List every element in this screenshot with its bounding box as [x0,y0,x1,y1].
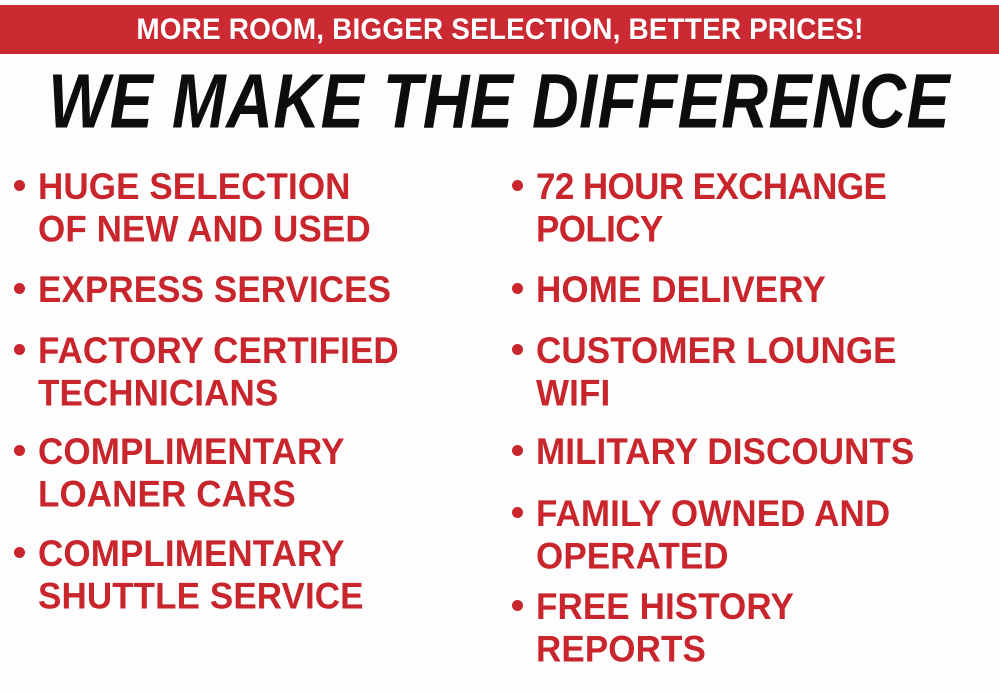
list-item: 72 HOUR EXCHANGE POLICY [512,166,999,246]
top-banner-text: MORE ROOM, BIGGER SELECTION, BETTER PRIC… [136,15,863,45]
bullet-dot-icon [512,344,523,355]
bullet-dot-icon [512,600,523,611]
bullet-dot-icon [14,180,25,191]
benefits-columns: HUGE SELECTION OF NEW AND USED EXPRESS S… [0,148,999,692]
list-item: MILITARY DISCOUNTS [512,431,999,471]
list-item: COMPLIMENTARY LOANER CARS [14,431,500,511]
list-item-label: FREE HISTORY REPORTS [536,586,794,671]
bullet-dot-icon [512,445,523,456]
page-title: WE MAKE THE DIFFERENCE [49,63,951,140]
list-item: COMPLIMENTARY SHUTTLE SERVICE [14,533,500,613]
list-item: CUSTOMER LOUNGE WIFI [512,330,999,410]
list-item: FACTORY CERTIFIED TECHNICIANS [14,330,500,410]
list-item: FAMILY OWNED AND OPERATED [512,493,999,573]
list-item-label: COMPLIMENTARY LOANER CARS [38,431,345,516]
list-item-label: FACTORY CERTIFIED TECHNICIANS [38,330,399,415]
bullet-dot-icon [14,445,25,456]
list-item: FREE HISTORY REPORTS [512,586,999,666]
bullet-dot-icon [512,507,523,518]
bullet-dot-icon [14,283,25,294]
bullet-dot-icon [512,180,523,191]
bullet-dot-icon [14,547,25,558]
list-item: HUGE SELECTION OF NEW AND USED [14,166,500,246]
list-item-label: FAMILY OWNED AND OPERATED [536,493,890,578]
bullet-dot-icon [512,283,523,294]
top-banner: MORE ROOM, BIGGER SELECTION, BETTER PRIC… [0,5,999,54]
benefits-column-right: 72 HOUR EXCHANGE POLICY HOME DELIVERY CU… [512,148,999,692]
benefits-column-left: HUGE SELECTION OF NEW AND USED EXPRESS S… [14,148,500,692]
list-item-label: 72 HOUR EXCHANGE POLICY [536,166,886,251]
promo-poster: MORE ROOM, BIGGER SELECTION, BETTER PRIC… [0,0,999,692]
list-item-label: HOME DELIVERY [536,269,826,311]
list-item-label: CUSTOMER LOUNGE WIFI [536,330,897,415]
list-item: HOME DELIVERY [512,269,999,309]
list-item-label: COMPLIMENTARY SHUTTLE SERVICE [38,533,364,618]
list-item: EXPRESS SERVICES [14,269,500,309]
list-item-label: HUGE SELECTION OF NEW AND USED [38,166,371,251]
headline-container: WE MAKE THE DIFFERENCE [0,62,999,140]
list-item-label: EXPRESS SERVICES [38,269,391,311]
bullet-dot-icon [14,344,25,355]
list-item-label: MILITARY DISCOUNTS [536,431,914,473]
